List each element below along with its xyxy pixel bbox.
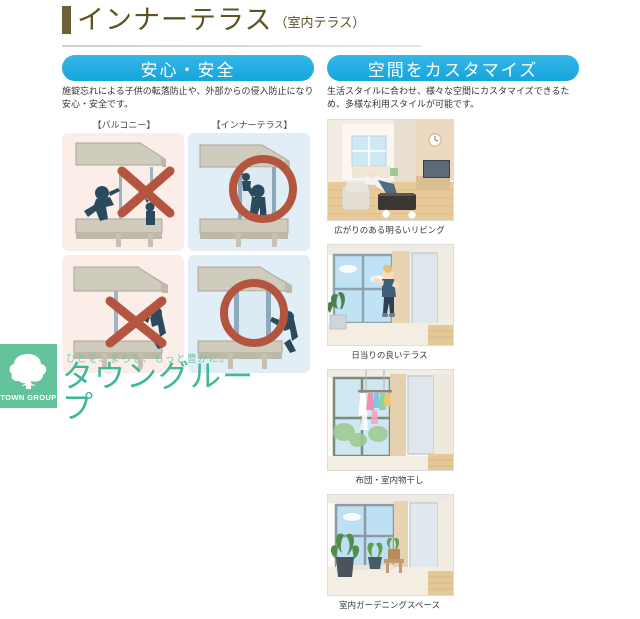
caption-indoor-garden: 室内ガーデニングスペース <box>327 596 452 616</box>
illustration-balcony-child-fall-danger <box>62 133 184 251</box>
logo-name: タウングループ <box>62 362 282 424</box>
section-safety-body: 施錠忘れによる子供の転落防止や、外部からの侵入防止になり安心・安全です。 <box>62 86 314 112</box>
photo-cell-sunny-terrace: 日当りの良いテラス <box>327 244 452 366</box>
photo-indoor-garden <box>327 494 454 596</box>
photo-grid: 広がりのある明るいリビング <box>327 119 582 619</box>
logo-badge-text: TOWN GROUP <box>0 393 57 402</box>
photo-sunny-terrace <box>327 244 454 346</box>
photo-cell-indoor-garden: 室内ガーデニングスペース <box>327 494 452 616</box>
caption-living-room: 広がりのある明るいリビング <box>327 221 452 241</box>
section-customize-heading: 空間をカスタマイズ <box>327 55 579 81</box>
label-balcony: 【バルコニー】 <box>62 118 186 131</box>
section-customize: 空間をカスタマイズ 生活スタイルに合わせ、様々な空間にカスタマイズできるため、多… <box>327 55 579 619</box>
photo-indoor-laundry <box>327 369 454 471</box>
caption-indoor-laundry: 布団・室内物干し <box>327 471 452 491</box>
photo-cell-indoor-laundry: 布団・室内物干し <box>327 369 452 491</box>
title-underline <box>62 45 422 47</box>
illustration-grid <box>62 133 314 377</box>
title-sub-text: （室内テラス） <box>274 12 365 34</box>
illustration-labels: 【バルコニー】 【インナーテラス】 <box>62 118 314 131</box>
photo-living-room <box>327 119 454 221</box>
brand-logo: TOWN GROUP ひとを、まちを、もっと豊かに。 タウングループ <box>0 344 282 408</box>
inner-terrace-safe-diagram <box>188 133 310 251</box>
tree-icon <box>7 352 50 390</box>
poster-root: インナーテラス （室内テラス） 安心・安全 施錠忘れによる子供の転落防止や、外部… <box>0 0 640 408</box>
caption-sunny-terrace: 日当りの良いテラス <box>327 346 452 366</box>
page-title: インナーテラス （室内テラス） <box>62 6 365 34</box>
section-customize-body: 生活スタイルに合わせ、様々な空間にカスタマイズできるため、多様な利用スタイルが可… <box>327 86 579 112</box>
illustration-inner-terrace-child-safe <box>188 133 310 251</box>
section-safety: 安心・安全 施錠忘れによる子供の転落防止や、外部からの侵入防止になり安心・安全で… <box>62 55 314 377</box>
section-safety-heading: 安心・安全 <box>62 55 314 81</box>
balcony-fall-diagram <box>62 133 184 251</box>
title-main-text: インナーテラス <box>77 7 272 34</box>
photo-cell-living-room: 広がりのある明るいリビング <box>327 119 452 241</box>
label-inner-terrace: 【インナーテラス】 <box>190 118 314 131</box>
title-accent-bar <box>62 6 71 34</box>
